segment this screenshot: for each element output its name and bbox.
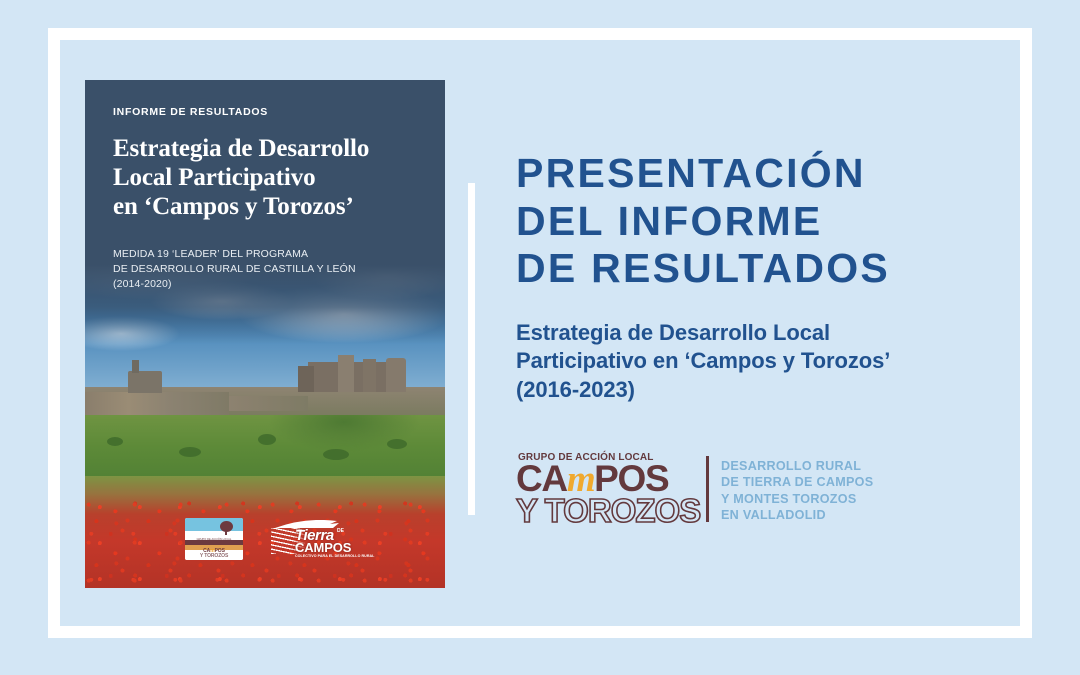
page-title: PRESENTACIÓN DEL INFORME DE RESULTADOS (516, 150, 1016, 293)
right-text-panel: PRESENTACIÓN DEL INFORME DE RESULTADOS E… (516, 150, 1016, 404)
subhead-line-2: Participativo en ‘Campos y Torozos’ (516, 348, 890, 373)
cover-title-line-1: Estrategia de Desarrollo (113, 135, 369, 162)
cover-title-line-2: Local Participativo (113, 164, 315, 191)
cover-text-block: INFORME DE RESULTADOS Estrategia de Desa… (113, 106, 425, 292)
bush (387, 439, 407, 449)
gal-wordmark: GRUPO DE ACCIÓN LOCAL CAmPOS ZY TOROZOS (516, 452, 696, 526)
castle-tower-right (386, 358, 406, 392)
cover-subtitle-line-2: DE DESARROLLO RURAL DE CASTILLA Y LEÓN (113, 263, 356, 275)
cover-logo-row: GRUPO DE ACCIÓN LOCAL CAmPOS Y TOROZOS T… (185, 516, 347, 560)
page-subtitle: Estrategia de Desarrollo Local Participa… (516, 319, 1016, 405)
gal-torozos-z: Z (635, 492, 654, 529)
bush (179, 447, 201, 457)
badge-wordmark: CAmPOS Y TOROZOS (185, 549, 243, 560)
gal-divider-rule (706, 456, 709, 522)
cover-title: Estrategia de Desarrollo Local Participa… (113, 134, 425, 221)
cover-subtitle: MEDIDA 19 ‘LEADER’ DEL PROGRAMA DE DESAR… (113, 247, 425, 292)
de-word: DE (337, 529, 344, 534)
cover-subtitle-line-1: MEDIDA 19 ‘LEADER’ DEL PROGRAMA (113, 248, 308, 260)
headline-line-1: PRESENTACIÓN (516, 150, 866, 196)
cover-subtitle-line-3: (2014-2020) (113, 278, 172, 290)
badge-sky (185, 518, 243, 531)
tierra-de-campos-badge-icon: Tierra DE CAMPOS COLECTIVO PARA EL DESAR… (269, 516, 347, 560)
gal-torozos-a: Y TORO (516, 492, 635, 529)
campos-y-torozos-badge-icon: GRUPO DE ACCIÓN LOCAL CAmPOS Y TOROZOS (185, 518, 243, 560)
bush (107, 437, 123, 446)
cover-kicker: INFORME DE RESULTADOS (113, 106, 425, 118)
gal-campos-word: CAmPOS (516, 464, 696, 495)
church-silhouette (128, 371, 162, 393)
slide-canvas: INFORME DE RESULTADOS Estrategia de Desa… (0, 0, 1080, 675)
castle-tower-mid2 (363, 359, 376, 392)
badge-tree-icon (220, 521, 233, 532)
gal-tagline: DESARROLLO RURAL DE TIERRA DE CAMPOS Y M… (721, 452, 873, 523)
subhead-line-3: (2016-2023) (516, 377, 635, 402)
badge-torozos: Y TOROZOS (185, 554, 243, 559)
badge-kicker: GRUPO DE ACCIÓN LOCAL (185, 538, 243, 541)
gal-logo-lockup: GRUPO DE ACCIÓN LOCAL CAmPOS ZY TOROZOS … (516, 452, 873, 526)
castle-tower-mid (338, 355, 354, 392)
vertical-divider (468, 183, 475, 515)
village-houses (85, 392, 229, 415)
subhead-line-1: Estrategia de Desarrollo Local (516, 320, 830, 345)
village-houses-far (229, 396, 308, 411)
campos-word: CAMPOS (295, 541, 351, 554)
bush (258, 434, 276, 445)
gal-torozos-word: ZY TOROZOS (516, 496, 696, 526)
castle-tower-left (298, 366, 314, 392)
headline-line-2: DEL INFORME (516, 198, 823, 244)
cover-title-line-3: en ‘Campos y Torozos’ (113, 193, 354, 220)
gal-torozos-b: OS (655, 492, 701, 529)
headline-line-3: DE RESULTADOS (516, 245, 890, 291)
tierra-tagline: COLECTIVO PARA EL DESARROLLO RURAL (295, 554, 374, 558)
castle-silhouette (308, 362, 398, 392)
report-cover-image: INFORME DE RESULTADOS Estrategia de Desa… (85, 80, 445, 588)
bush (323, 449, 349, 460)
